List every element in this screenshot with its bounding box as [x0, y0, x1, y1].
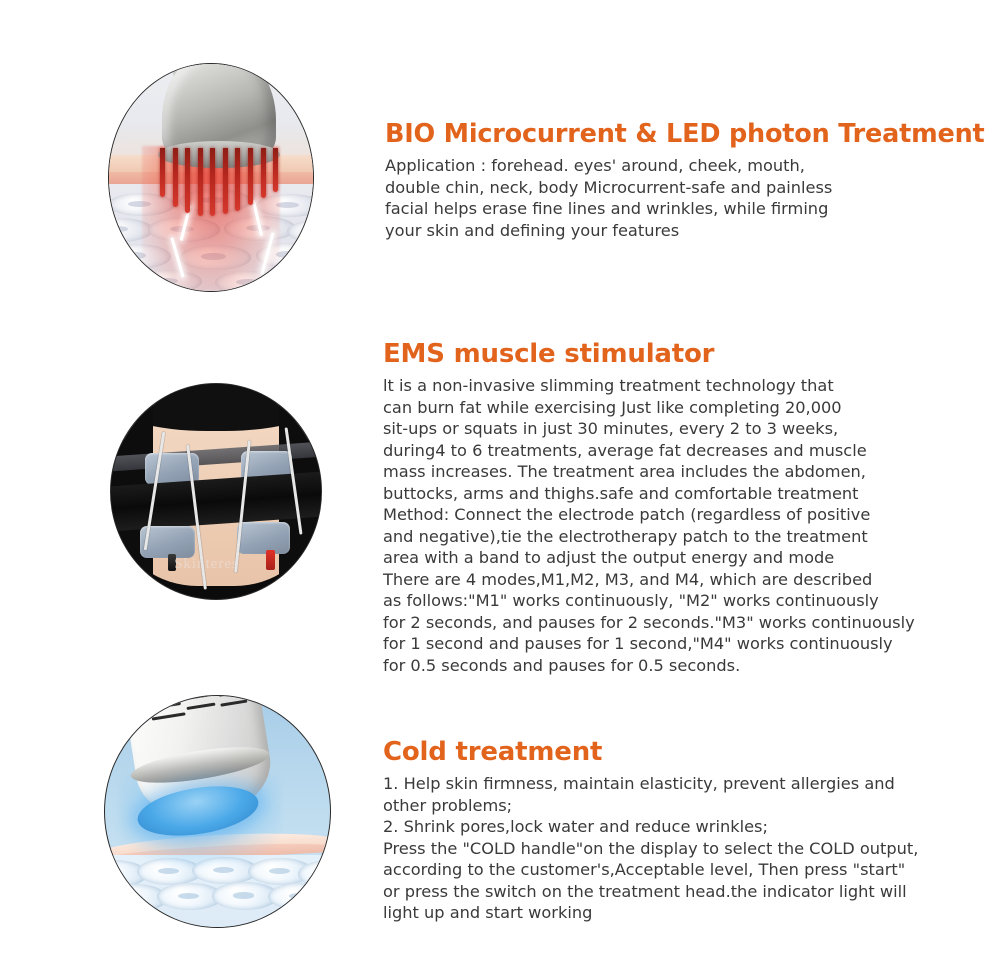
cold-text-block: Cold treatment 1. Help skin firmness, ma… — [383, 737, 963, 924]
bio-microcurrent-photo — [108, 63, 314, 292]
cold-treatment-photo — [104, 695, 331, 928]
product-feature-page: BIO Microcurrent & LED photon Treatment … — [0, 0, 1000, 960]
cold-body-text: 1. Help skin firmness, maintain elastici… — [383, 773, 963, 924]
electrode-connector-red — [266, 550, 275, 570]
ems-body-text: lt is a non-invasive slimming treatment … — [383, 375, 963, 676]
cold-heading: Cold treatment — [383, 737, 963, 767]
image-watermark: Skinteres — [174, 556, 239, 573]
electrode-pad — [237, 522, 290, 554]
ems-heading: EMS muscle stimulator — [383, 339, 963, 369]
ems-text-block: EMS muscle stimulator lt is a non-invasi… — [383, 339, 963, 676]
bio-heading: BIO Microcurrent & LED photon Treatment — [385, 119, 985, 149]
led-pin-array — [160, 148, 278, 216]
bio-text-block: BIO Microcurrent & LED photon Treatment … — [385, 119, 985, 241]
bio-body-text: Application : forehead. eyes' around, ch… — [385, 155, 985, 241]
ems-stimulator-photo: Skinteres — [110, 383, 322, 600]
